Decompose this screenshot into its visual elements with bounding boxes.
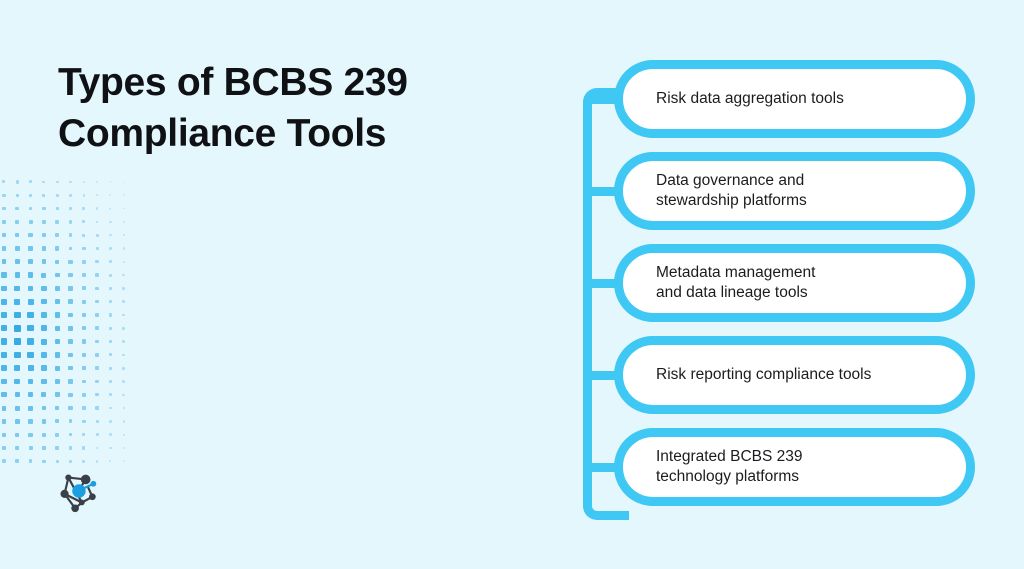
network-graph-logo [54, 467, 102, 515]
diagram-item-label: Integrated BCBS 239 technology platforms [623, 447, 821, 487]
page-title: Types of BCBS 239 Compliance Tools [58, 58, 558, 159]
diagram-item-label: Risk reporting compliance tools [623, 365, 889, 385]
diagram-item-2[interactable]: Data governance and stewardship platform… [614, 152, 975, 230]
compliance-tools-diagram: Risk data aggregation toolsData governan… [575, 50, 985, 520]
page-title-line-1: Types of BCBS 239 [58, 58, 558, 109]
diagram-item-label: Data governance and stewardship platform… [623, 171, 825, 211]
diagram-item-label: Risk data aggregation tools [623, 89, 862, 109]
diagram-item-3[interactable]: Metadata management and data lineage too… [614, 244, 975, 322]
diagram-item-5[interactable]: Integrated BCBS 239 technology platforms [614, 428, 975, 506]
diagram-item-1[interactable]: Risk data aggregation tools [614, 60, 975, 138]
diagram-item-label: Metadata management and data lineage too… [623, 263, 833, 303]
slide-root: { "slide": { "background_color": "#E3F7F… [0, 0, 1024, 569]
halftone-dot-pattern [0, 178, 130, 463]
page-title-line-2: Compliance Tools [58, 109, 558, 160]
diagram-item-4[interactable]: Risk reporting compliance tools [614, 336, 975, 414]
